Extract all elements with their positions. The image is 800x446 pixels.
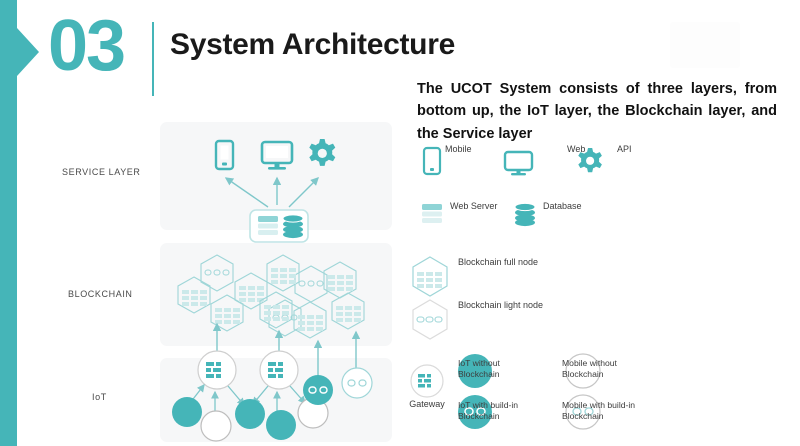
- legend-label-mobile: Mobile: [445, 144, 472, 156]
- panel-iot-layer: [160, 358, 392, 442]
- legend-label-iot-with-blockchain: IoT with build-inBlockchain: [458, 400, 518, 422]
- left-accent-rail: [0, 0, 17, 446]
- legend-item-gateway: Gateway: [406, 366, 448, 409]
- legend-item-mobile-with-blockchain: Mobile with build-inBlockchain: [562, 400, 635, 422]
- slide-root: 03 System Architecture The UCOT System c…: [0, 0, 800, 446]
- left-rail-arrow-icon: [17, 28, 39, 76]
- panel-service-layer: [160, 122, 392, 230]
- legend-label-iot-without-blockchain: IoT withoutBlockchain: [458, 358, 500, 380]
- panel-blockchain-layer: [160, 243, 392, 346]
- legend-item-light-node: Blockchain light node: [405, 300, 543, 312]
- legend-label-mobile-without-blockchain: Mobile withoutBlockchain: [562, 358, 617, 380]
- legend-item-mobile: Mobile: [419, 144, 472, 156]
- legend-item-database: Database: [510, 201, 582, 213]
- legend-label-light-node: Blockchain light node: [458, 300, 543, 312]
- legend-item-mobile-without-blockchain: Mobile withoutBlockchain: [562, 358, 617, 380]
- watermark-logo: [670, 22, 740, 68]
- legend-item-iot-with-blockchain: IoT with build-inBlockchain: [458, 400, 518, 422]
- layer-label-service: SERVICE LAYER: [62, 167, 141, 177]
- legend-label-database: Database: [543, 201, 582, 213]
- legend-item-full-node: Blockchain full node: [405, 257, 538, 269]
- legend-item-web: Web: [503, 144, 585, 156]
- legend-item-iot-without-blockchain: IoT withoutBlockchain: [458, 358, 500, 380]
- legend-label-api: API: [617, 144, 632, 156]
- layer-label-iot: IoT: [92, 392, 107, 402]
- legend-label-full-node: Blockchain full node: [458, 257, 538, 269]
- legend-label-web-server: Web Server: [450, 201, 497, 213]
- legend-item-api: API: [579, 144, 632, 156]
- intro-paragraph: The UCOT System consists of three layers…: [417, 78, 777, 145]
- page-title: System Architecture: [170, 28, 455, 62]
- legend-item-web-server: Web Server: [419, 201, 497, 213]
- section-number: 03: [48, 10, 124, 82]
- legend-label-gateway: Gateway: [406, 399, 448, 409]
- title-divider: [152, 22, 154, 96]
- legend-label-mobile-with-blockchain: Mobile with build-inBlockchain: [562, 400, 635, 422]
- layer-label-blockchain: BLOCKCHAIN: [68, 289, 133, 299]
